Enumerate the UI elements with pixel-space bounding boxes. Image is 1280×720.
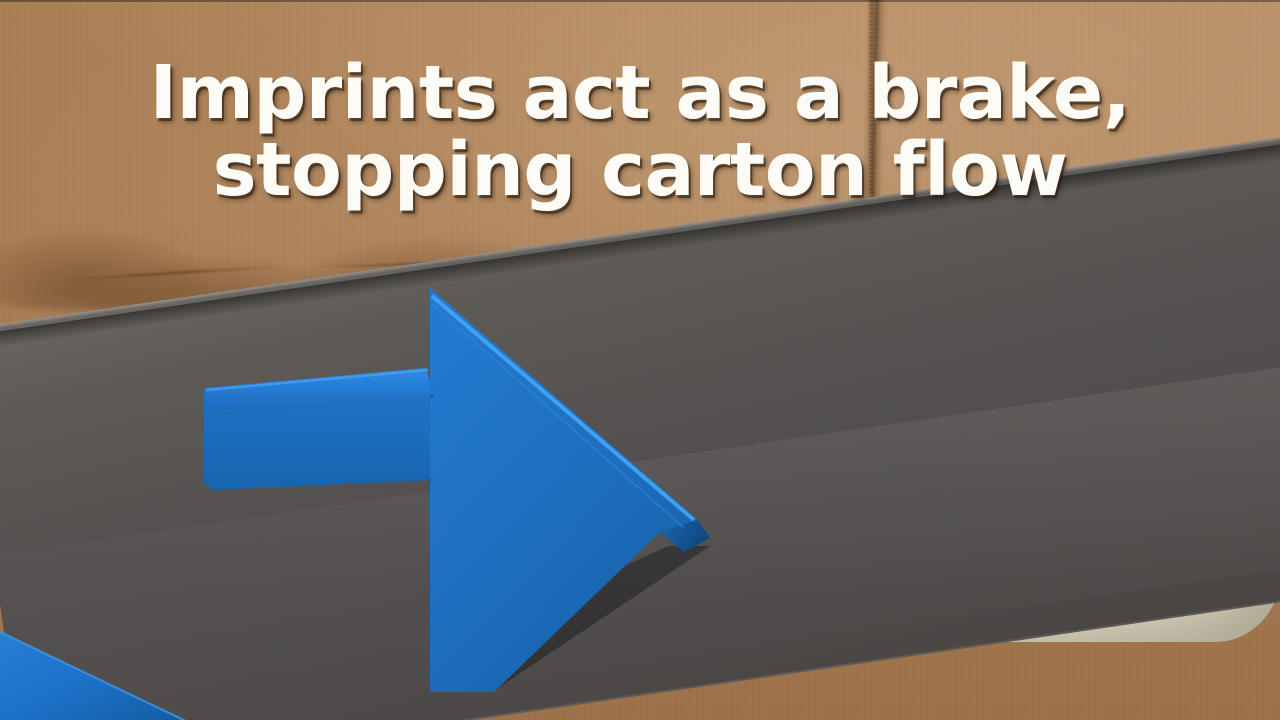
animation-frame: Imprints act as a brake, stopping carton… <box>0 0 1280 720</box>
flow-arrow-secondary <box>0 628 206 720</box>
flow-arrow-secondary-face <box>0 630 192 720</box>
flow-arrow <box>198 284 718 696</box>
frame-top-edge <box>0 0 1280 2</box>
